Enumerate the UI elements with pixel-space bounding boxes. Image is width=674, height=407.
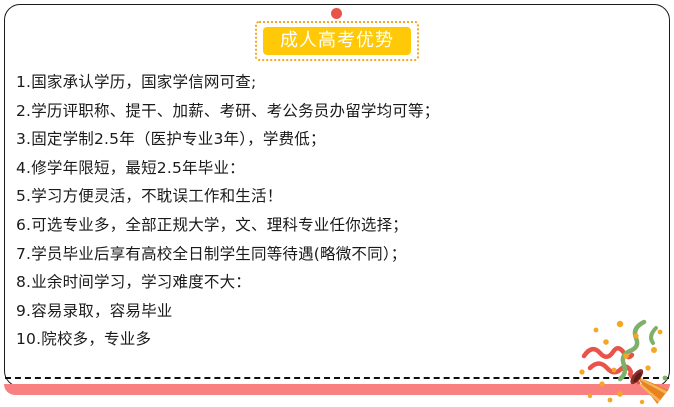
list-item: 10.院校多，专业多 [16,325,636,354]
list-item: 2.学历评职称、提干、加薪、考研、考公务员办留学均可等； [16,97,636,126]
decorative-dot-icon [331,8,342,19]
title-badge: 成人高考优势 [255,21,419,61]
advantages-list: 1.国家承认学历，国家学信网可查; 2.学历评职称、提干、加薪、考研、考公务员办… [16,68,636,354]
list-item: 8.业余时间学习，学习难度不大： [16,268,636,297]
bottom-accent-band [4,384,670,395]
title-badge-fill: 成人高考优势 [262,26,412,56]
page-root: 成人高考优势 1.国家承认学历，国家学信网可查; 2.学历评职称、提干、加薪、考… [0,0,674,407]
list-item: 3.固定学制2.5年（医护专业3年），学费低； [16,125,636,154]
dashed-divider [5,377,669,379]
list-item: 7.学员毕业后享有高校全日制学生同等待遇(略微不同）； [16,240,636,269]
list-item: 9.容易录取，容易毕业 [16,297,636,326]
page-title: 成人高考优势 [280,32,394,50]
list-item: 5.学习方便灵活，不耽误工作和生活！ [16,182,636,211]
list-item: 1.国家承认学历，国家学信网可查; [16,68,636,97]
list-item: 4.修学年限短，最短2.5年毕业： [16,154,636,183]
list-item: 6.可选专业多，全部正规大学，文、理科专业任你选择； [16,211,636,240]
